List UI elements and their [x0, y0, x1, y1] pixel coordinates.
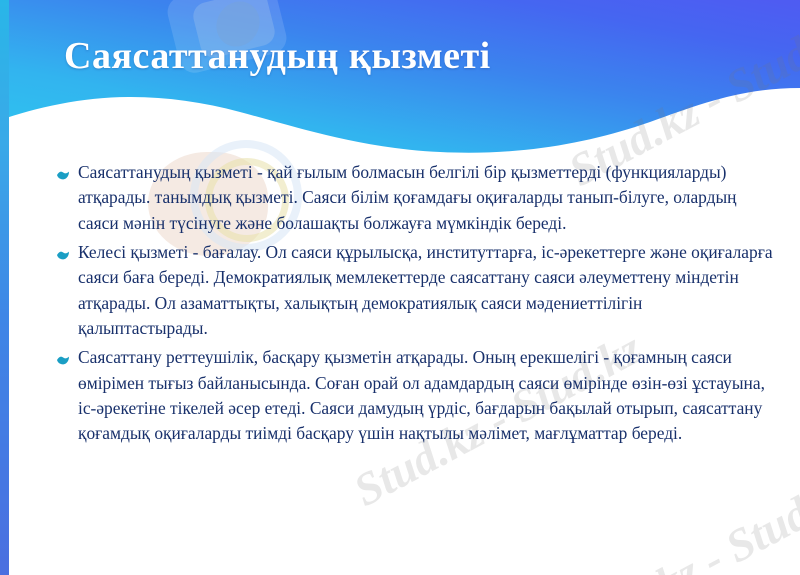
bullet-text: Келесі қызметі - бағалау. Ол саяси құрыл…	[78, 240, 774, 341]
diamond-bullet-icon	[56, 250, 72, 260]
presentation-slide: Саясаттанудың қызметі Stud.kz - Stud.kz …	[0, 0, 800, 575]
slide-header-banner	[0, 0, 800, 180]
bullet-item: Саясаттанудың қызметі - қай ғылым болмас…	[0, 160, 800, 236]
diamond-bullet-icon	[56, 355, 72, 365]
page-title: Саясаттанудың қызметі	[64, 36, 764, 78]
bullet-text: Саясаттану реттеушілік, басқару қызметін…	[78, 345, 774, 446]
slide-body: Саясаттанудың қызметі - қай ғылым болмас…	[0, 160, 800, 450]
left-accent-strip	[0, 0, 9, 575]
diamond-bullet-icon	[56, 170, 72, 180]
watermark-text: Stud.kz - Stud.kz	[560, 461, 800, 575]
bullet-item: Келесі қызметі - бағалау. Ол саяси құрыл…	[0, 240, 800, 341]
bullet-item: Саясаттану реттеушілік, басқару қызметін…	[0, 345, 800, 446]
bullet-text: Саясаттанудың қызметі - қай ғылым болмас…	[78, 160, 774, 236]
